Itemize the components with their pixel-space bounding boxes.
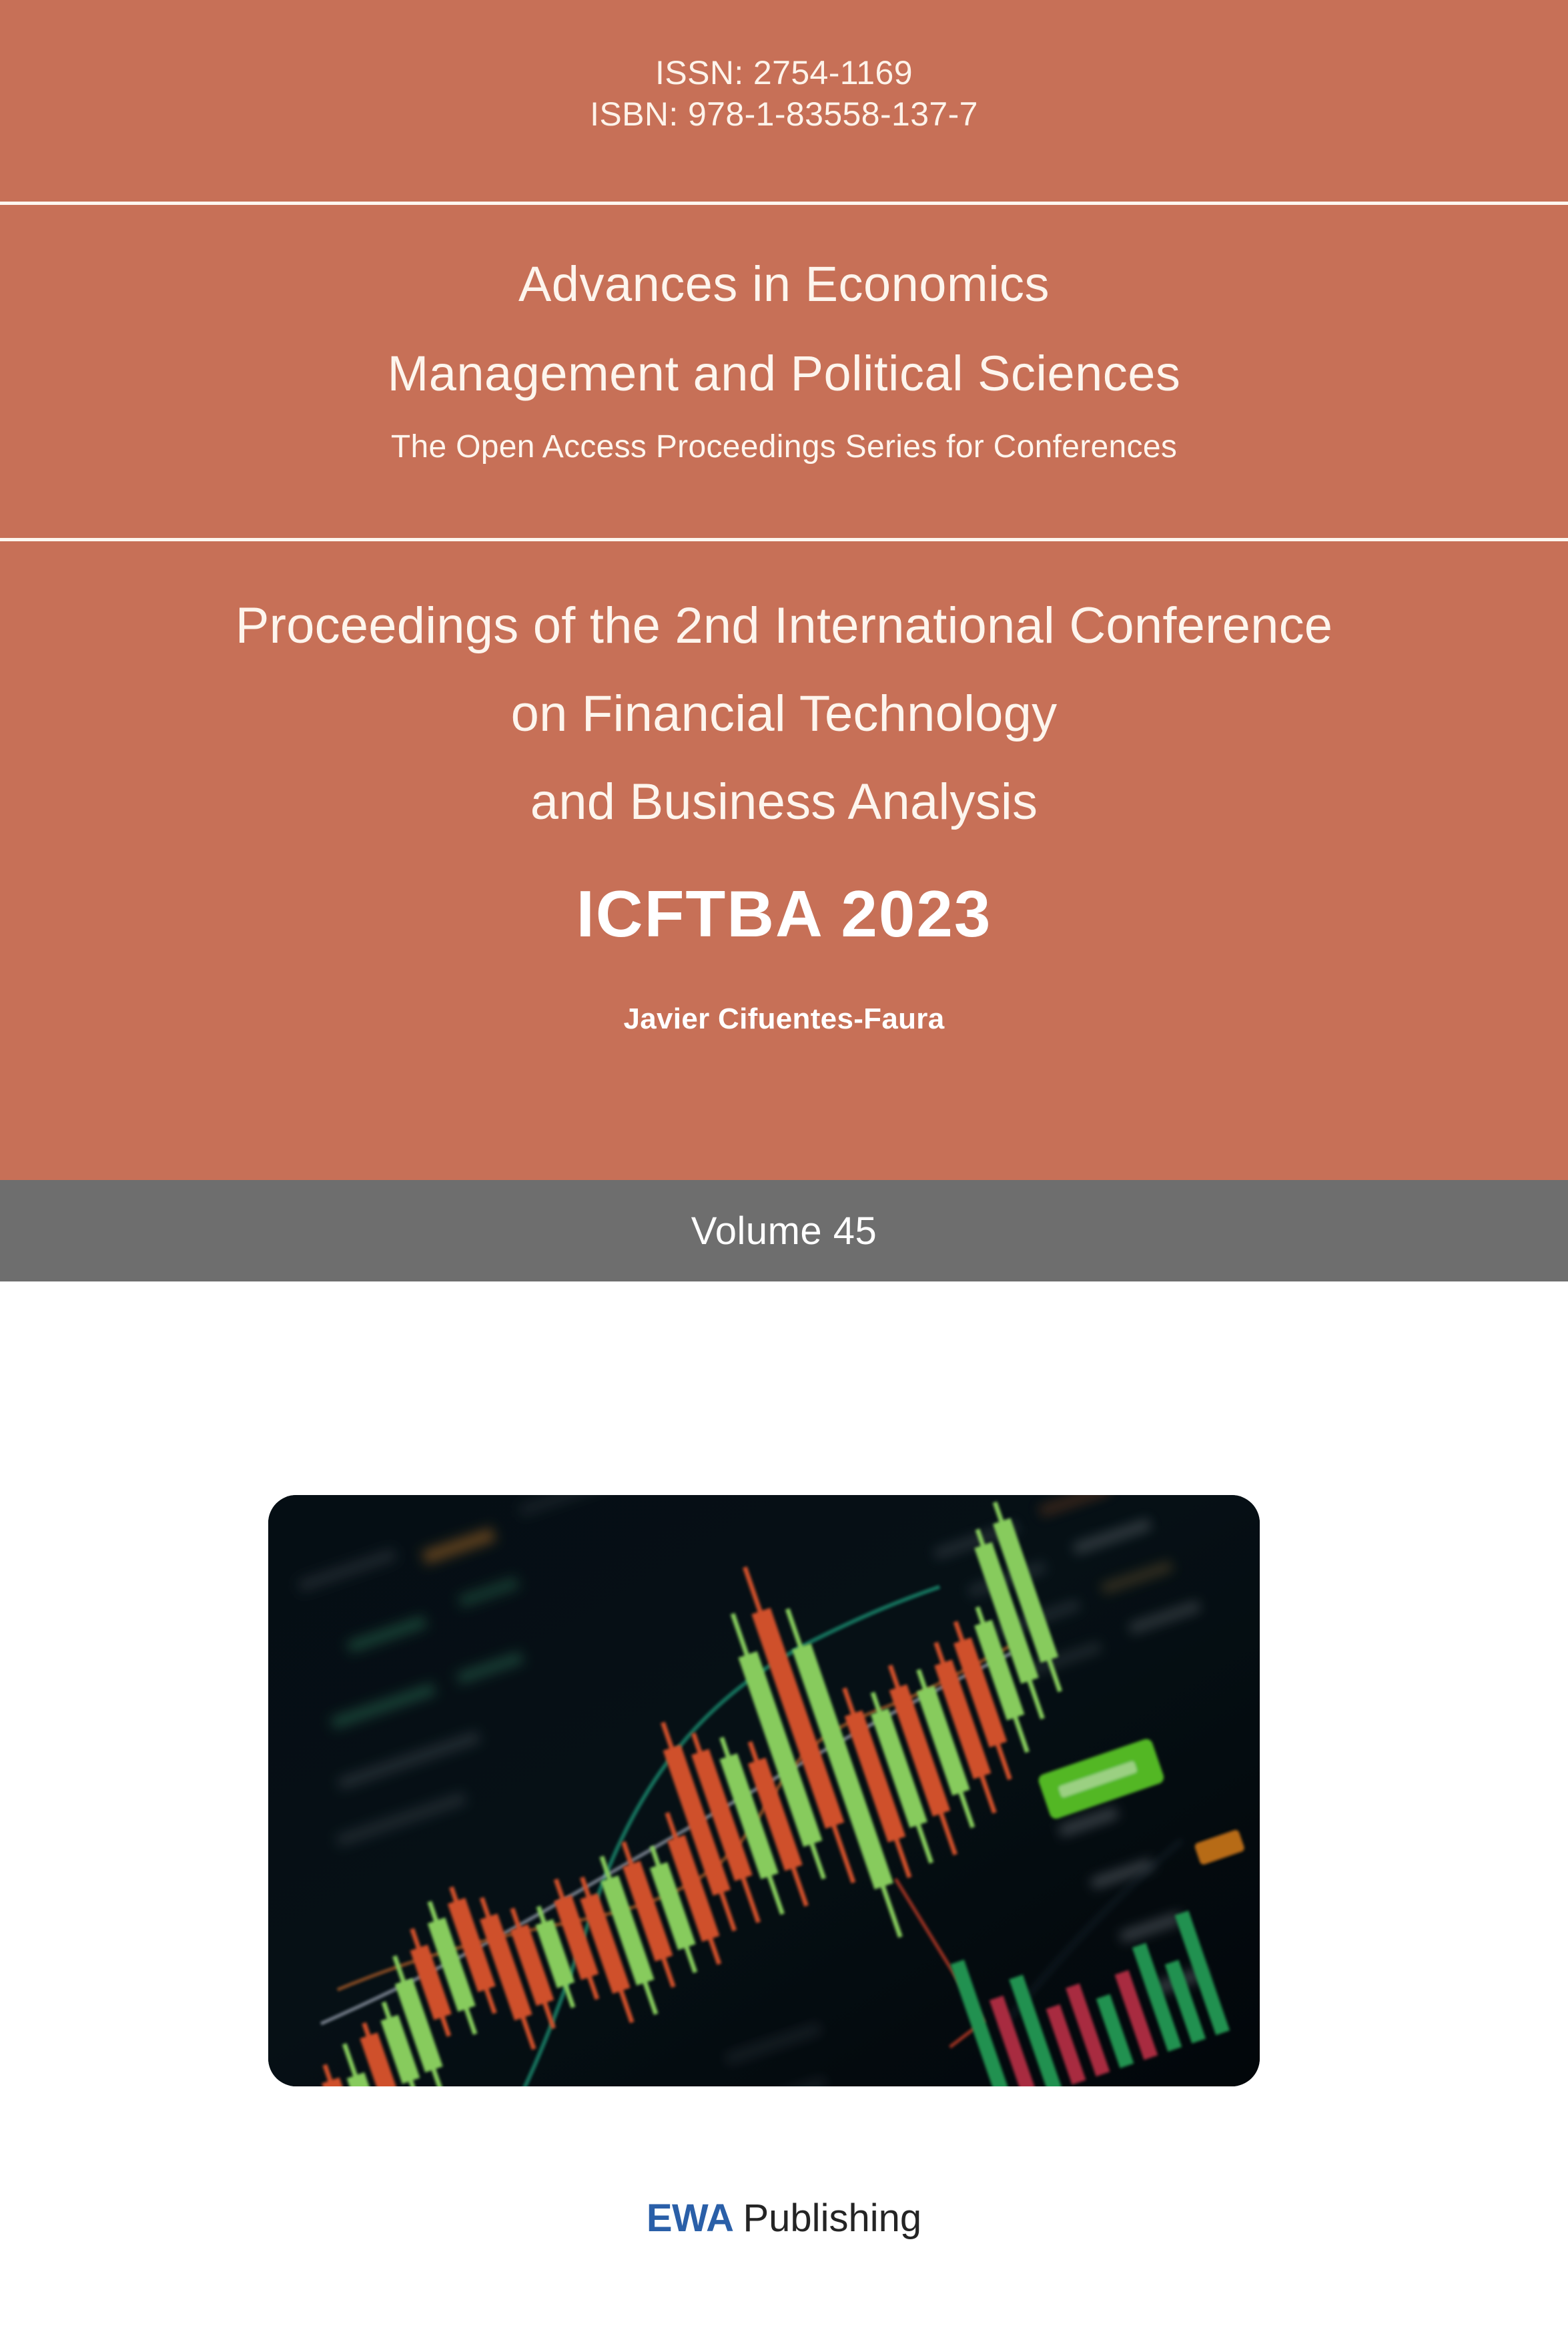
- divider-top: [0, 202, 1568, 205]
- divider-middle: [0, 538, 1568, 541]
- conference-title-block: Proceedings of the 2nd International Con…: [0, 582, 1568, 846]
- book-cover: ISSN: 2754-1169 ISBN: 978-1-83558-137-7 …: [0, 0, 1568, 2336]
- cover-artwork: 3.226: [268, 1495, 1260, 2086]
- volume-label: Volume 45: [691, 1209, 877, 1253]
- series-tagline: The Open Access Proceedings Series for C…: [0, 427, 1568, 467]
- publisher-logo: EWAPublishing: [0, 2196, 1568, 2241]
- identifier-block: ISSN: 2754-1169 ISBN: 978-1-83558-137-7: [0, 52, 1568, 135]
- candlestick-chart-photo: 3.226: [268, 1495, 1260, 2086]
- series-block: Advances in Economics Management and Pol…: [0, 254, 1568, 467]
- publisher-mark-ewa: EWA: [647, 2197, 734, 2240]
- series-title-line-1: Advances in Economics: [0, 254, 1568, 315]
- conference-title-line-2: on Financial Technology: [0, 670, 1568, 758]
- conference-acronym: ICFTBA 2023: [0, 874, 1568, 953]
- isbn-text: ISBN: 978-1-83558-137-7: [0, 93, 1568, 135]
- accent-panel: ISSN: 2754-1169 ISBN: 978-1-83558-137-7 …: [0, 0, 1568, 1180]
- conference-title-line-3: and Business Analysis: [0, 758, 1568, 846]
- conference-title-line-1: Proceedings of the 2nd International Con…: [0, 582, 1568, 670]
- issn-text: ISSN: 2754-1169: [0, 52, 1568, 93]
- series-title-line-2: Management and Political Sciences: [0, 343, 1568, 404]
- editor-name: Javier Cifuentes-Faura: [0, 1001, 1568, 1037]
- publisher-word-publishing: Publishing: [743, 2197, 921, 2240]
- volume-band: Volume 45: [0, 1180, 1568, 1281]
